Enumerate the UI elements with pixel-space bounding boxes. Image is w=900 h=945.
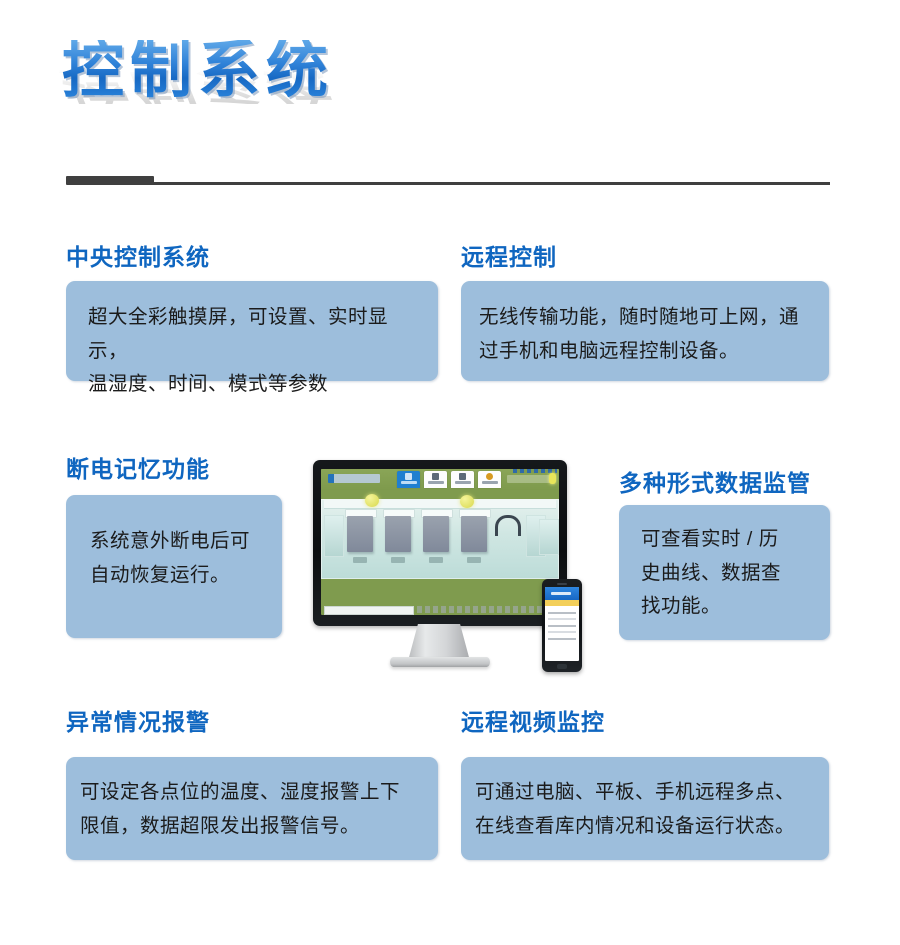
feature-box-remote-control: 无线传输功能，随时随地可上网，通 过手机和电脑远程控制设备。 (461, 281, 829, 381)
device-illustration (310, 452, 595, 680)
floor-pod (353, 557, 367, 563)
monitor-stand-neck (408, 624, 470, 661)
feature-text-line: 自动恢复运行。 (90, 559, 264, 593)
sensor-dome-icon (460, 495, 474, 508)
feature-text-line: 限值，数据超限发出报警信号。 (80, 810, 424, 844)
feature-text-line: 温湿度、时间、模式等参数 (88, 368, 418, 402)
feature-box-remote-video: 可通过电脑、平板、手机远程多点、 在线查看库内情况和设备运行状态。 (461, 757, 829, 860)
feature-box-abnormal-alarm: 可设定各点位的温度、湿度报警上下 限值，数据超限发出报警信号。 (66, 757, 438, 860)
phone-app-title-bar (551, 592, 571, 595)
phone-list-row (548, 612, 576, 614)
topbar-status-text (507, 475, 553, 483)
phone-speaker-icon (557, 583, 567, 585)
feature-heading-power-memory: 断电记忆功能 (66, 450, 210, 484)
feature-text-line: 可设定各点位的温度、湿度报警上下 (80, 776, 424, 810)
equipment-rack (385, 516, 411, 552)
sensor-dome-icon (365, 494, 379, 507)
footer-ticker (417, 606, 556, 613)
tab-label-bar (401, 481, 417, 484)
equipment-rack (347, 516, 373, 552)
phone-list-row (548, 638, 576, 640)
feature-text-line: 过手机和电脑远程控制设备。 (479, 335, 813, 369)
floor-pod (467, 557, 481, 563)
phone-list-row (548, 625, 576, 627)
section-divider (66, 176, 830, 188)
phone-app-header (545, 587, 579, 600)
app-tab-2[interactable] (424, 471, 447, 488)
floor-pod (429, 557, 443, 563)
feature-heading-remote-video: 远程视频监控 (461, 703, 605, 737)
feature-box-power-memory: 系统意外断电后可 自动恢复运行。 (66, 495, 282, 638)
feature-heading-central-control: 中央控制系统 (66, 238, 210, 272)
page-title: 控制系统 (62, 40, 334, 102)
app-tab-1[interactable] (397, 471, 420, 488)
desktop-monitor (313, 460, 567, 626)
app-tab-3[interactable] (451, 471, 474, 488)
tab-label-bar (455, 481, 471, 484)
feature-box-central-control: 超大全彩触摸屏，可设置、实时显示， 温湿度、时间、模式等参数 (66, 281, 438, 381)
feature-text-line: 超大全彩触摸屏，可设置、实时显示， (88, 301, 418, 368)
floor-pod (391, 557, 405, 563)
warehouse-3d-view (321, 499, 559, 579)
phone-list-row (548, 631, 576, 633)
app-tab-4[interactable] (478, 471, 501, 488)
feature-text-line: 可通过电脑、平板、手机远程多点、 (475, 776, 815, 810)
app-logo-icon (328, 474, 380, 483)
footer-status-field (324, 606, 414, 615)
tab-icon (486, 473, 493, 480)
equipment-rack (423, 516, 449, 552)
feature-heading-remote-control: 远程控制 (461, 238, 557, 272)
phone-screen (545, 587, 579, 661)
tab-label-bar (482, 481, 498, 484)
phone-accent-bar (545, 600, 579, 606)
tab-icon (459, 473, 466, 480)
feature-box-data-supervision: 可查看实时 / 历 史曲线、数据查 找功能。 (619, 505, 830, 640)
status-lamp-icon (549, 473, 556, 484)
warehouse-vent (324, 515, 344, 557)
tab-icon (432, 473, 439, 480)
phone-list-row (548, 618, 576, 620)
monitor-stand-base (390, 657, 490, 667)
monitor-screen (321, 469, 559, 615)
feature-text-line: 系统意外断电后可 (90, 525, 264, 559)
warehouse-back-wall (324, 499, 556, 509)
tab-label-bar (428, 481, 444, 484)
feature-text-line: 无线传输功能，随时随地可上网，通 (479, 301, 813, 335)
warehouse-vent (539, 519, 559, 555)
feature-text-line: 史曲线、数据查 (641, 557, 808, 591)
page-title-block: 控制系统 控制系统 (62, 40, 842, 190)
divider-thin-segment (152, 182, 830, 185)
equipment-rack (461, 516, 487, 552)
mobile-phone (542, 579, 582, 672)
feature-heading-abnormal-alarm: 异常情况报警 (66, 703, 210, 737)
divider-thick-segment (66, 176, 154, 185)
app-footer-bar (321, 606, 559, 613)
feature-text-line: 可查看实时 / 历 (641, 523, 808, 557)
warehouse-arch-door (495, 515, 521, 536)
phone-home-button[interactable] (557, 664, 567, 669)
tab-icon (405, 473, 412, 480)
feature-heading-data-supervision: 多种形式数据监管 (619, 464, 811, 498)
feature-text-line: 找功能。 (641, 590, 808, 624)
feature-text-line: 在线查看库内情况和设备运行状态。 (475, 810, 815, 844)
